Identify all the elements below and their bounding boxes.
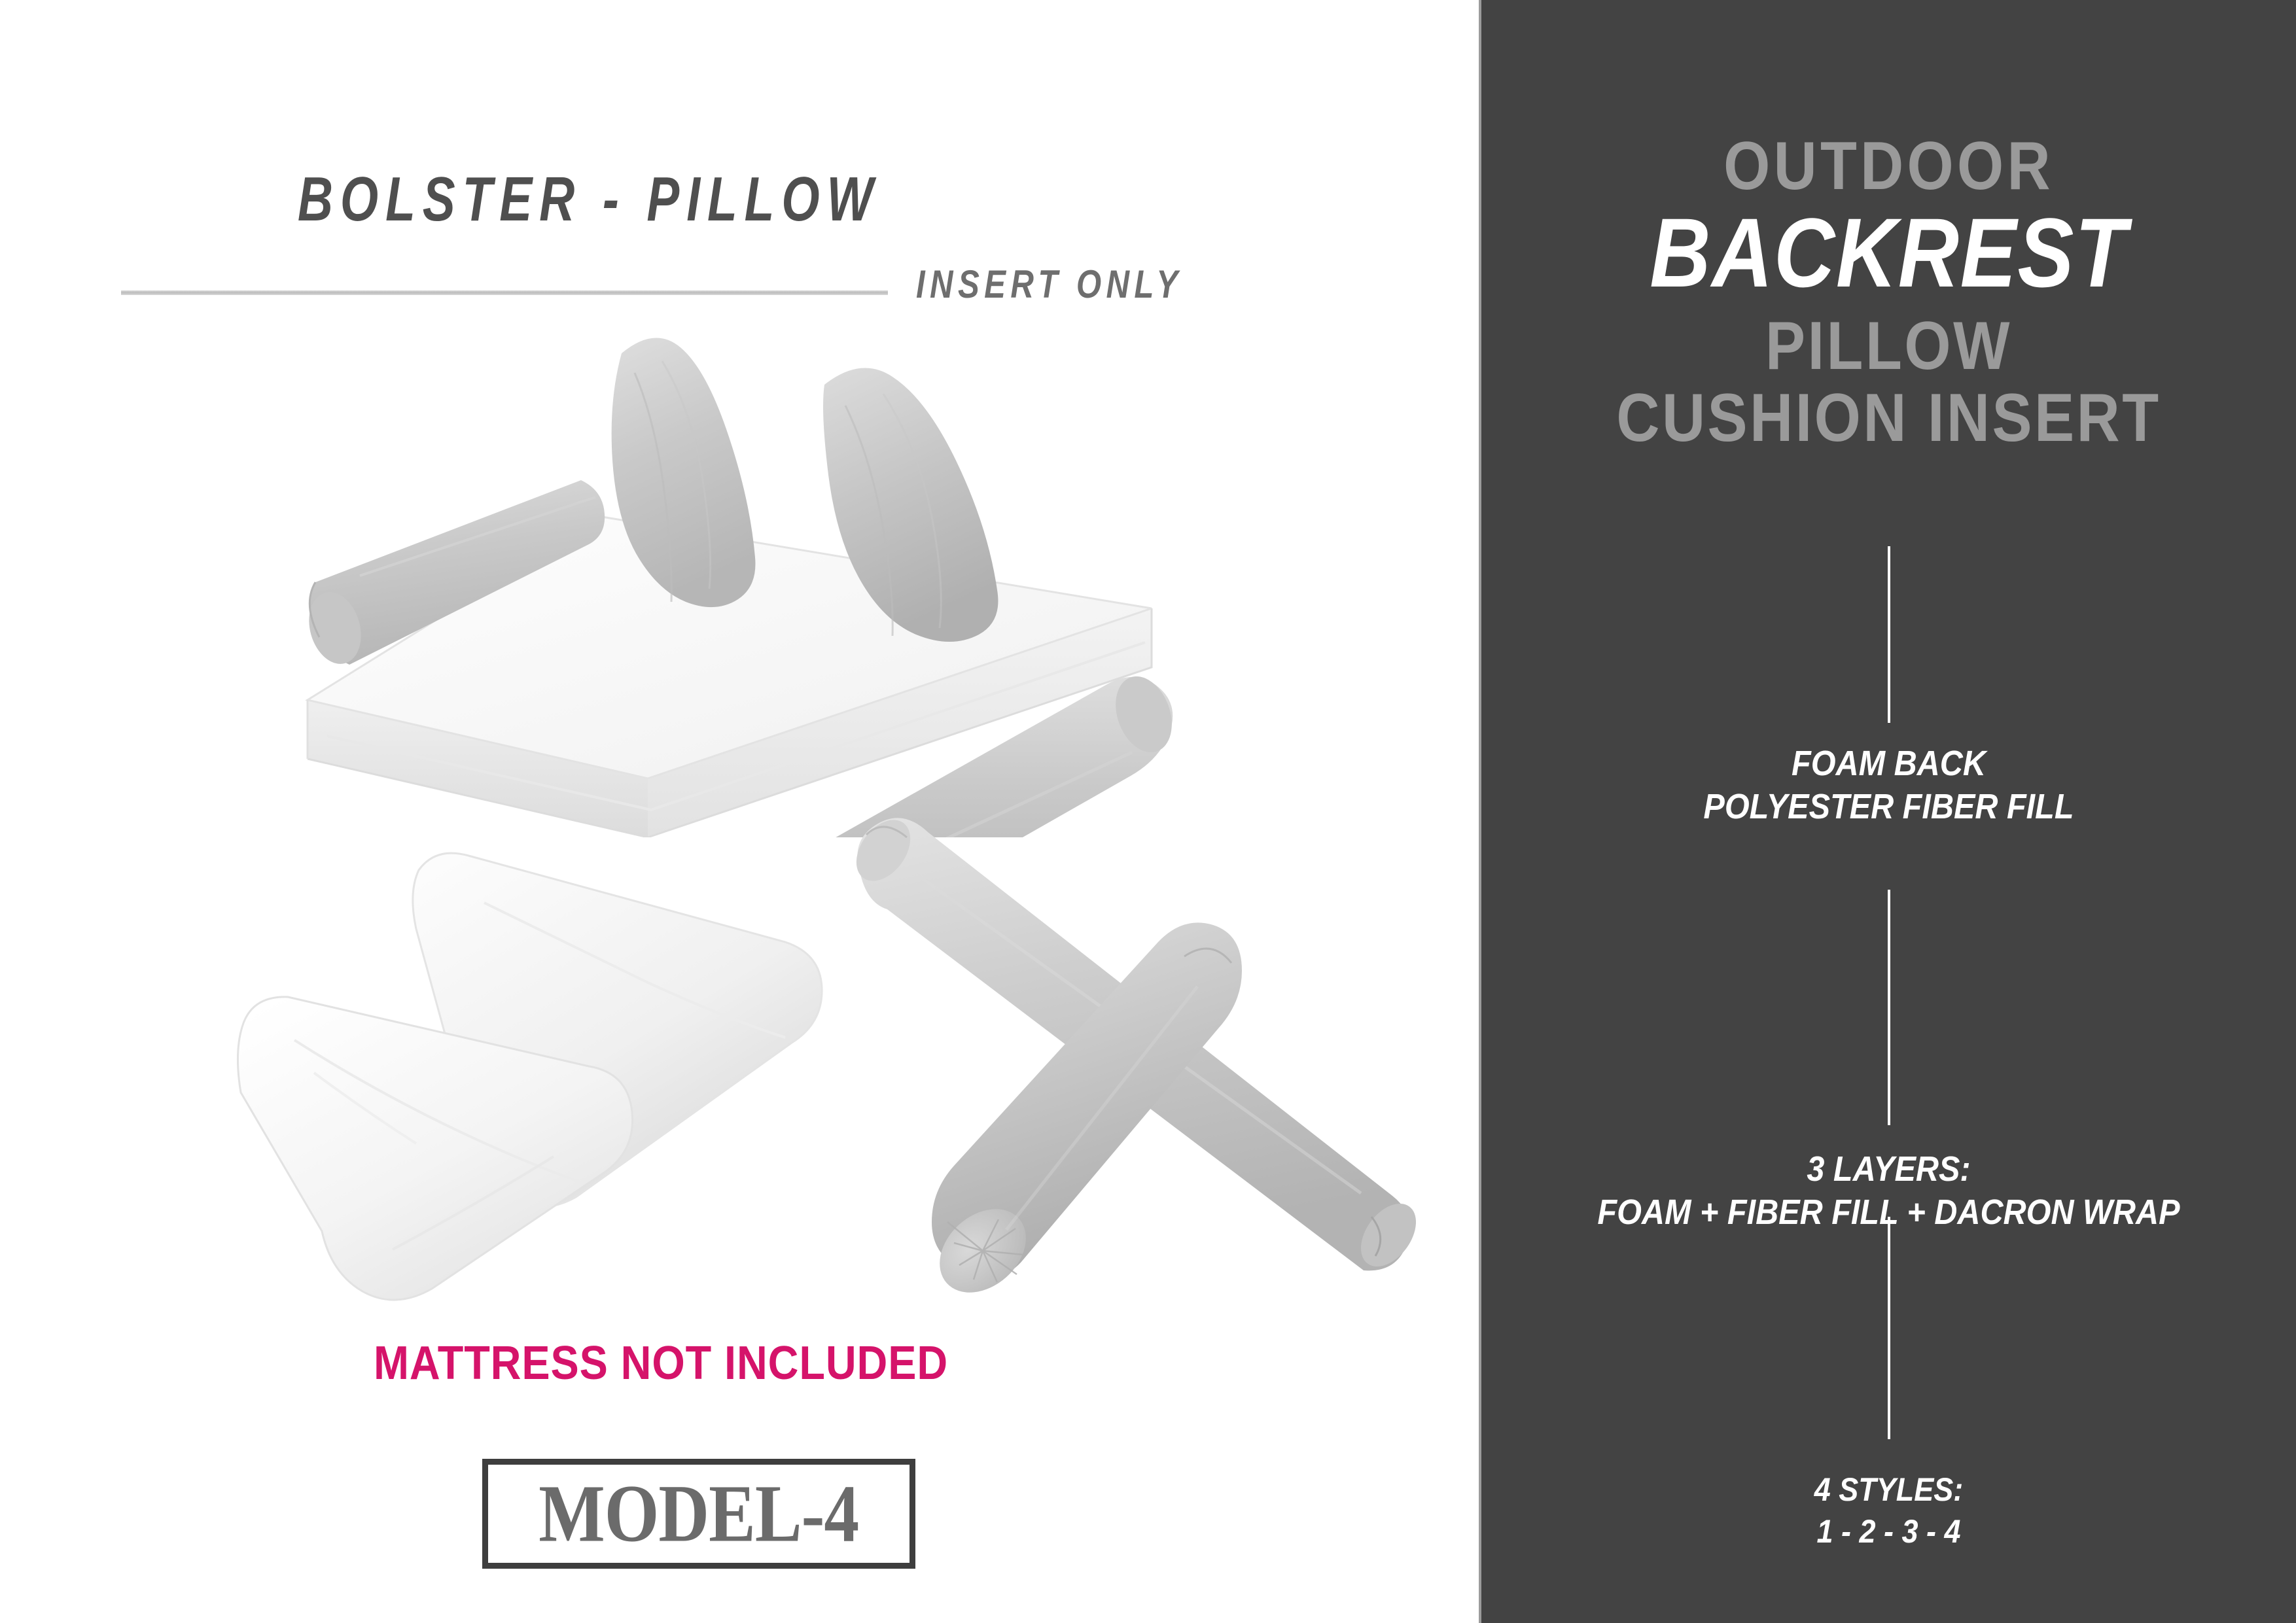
model-badge: MODEL-4 (482, 1459, 915, 1569)
spec-heading-backrest: BACKREST (1538, 196, 2239, 309)
spec-heading-outdoor: OUTDOOR (1530, 128, 2248, 205)
product-listing-image: BOLSTER - PILLOW INSERT ONLY (0, 0, 2296, 1623)
spec-divider-1 (1888, 546, 1890, 723)
spec-panel-content: OUTDOOR BACKREST PILLOW CUSHION INSERT F… (1481, 0, 2296, 1623)
spec-divider-2 (1888, 890, 1890, 1125)
header-subtitle: INSERT ONLY (916, 262, 1182, 307)
spec-polyester-fiber-fill: POLYESTER FIBER FILL (1522, 786, 2255, 829)
daybed-product-photo (281, 301, 1197, 837)
spec-group-materials: FOAM BACK POLYESTER FIBER FILL (1522, 742, 2255, 829)
spec-group-styles: 4 STYLES: 1 - 2 - 3 - 4 (1522, 1469, 2255, 1552)
spec-foam-back: FOAM BACK (1522, 742, 2255, 786)
mattress-disclaimer: MATTRESS NOT INCLUDED (66, 1336, 1256, 1390)
page-title: BOLSTER - PILLOW (130, 164, 1048, 236)
bolster-inserts-photo (844, 811, 1420, 1321)
header-divider-rule (121, 290, 888, 295)
bolster-illustration (844, 811, 1420, 1321)
spec-styles-list: 1 - 2 - 3 - 4 (1522, 1510, 2255, 1552)
left-photo-panel: BOLSTER - PILLOW INSERT ONLY (0, 0, 1479, 1623)
square-pillow-inserts-photo (222, 831, 864, 1315)
spec-styles-title: 4 STYLES: (1522, 1469, 2255, 1510)
spec-divider-3 (1888, 1217, 1890, 1439)
daybed-illustration (281, 301, 1197, 837)
spec-panel: OUTDOOR BACKREST PILLOW CUSHION INSERT F… (1479, 0, 2296, 1623)
spec-heading-pillow: PILLOW (1530, 307, 2248, 385)
model-badge-label: MODEL-4 (539, 1467, 858, 1561)
header-block: BOLSTER - PILLOW INSERT ONLY (0, 0, 1479, 327)
spec-heading-cushion-insert: CUSHION INSERT (1530, 379, 2248, 457)
spec-layers-title: 3 LAYERS: (1522, 1148, 2255, 1191)
pillow-inserts-illustration (222, 831, 864, 1315)
